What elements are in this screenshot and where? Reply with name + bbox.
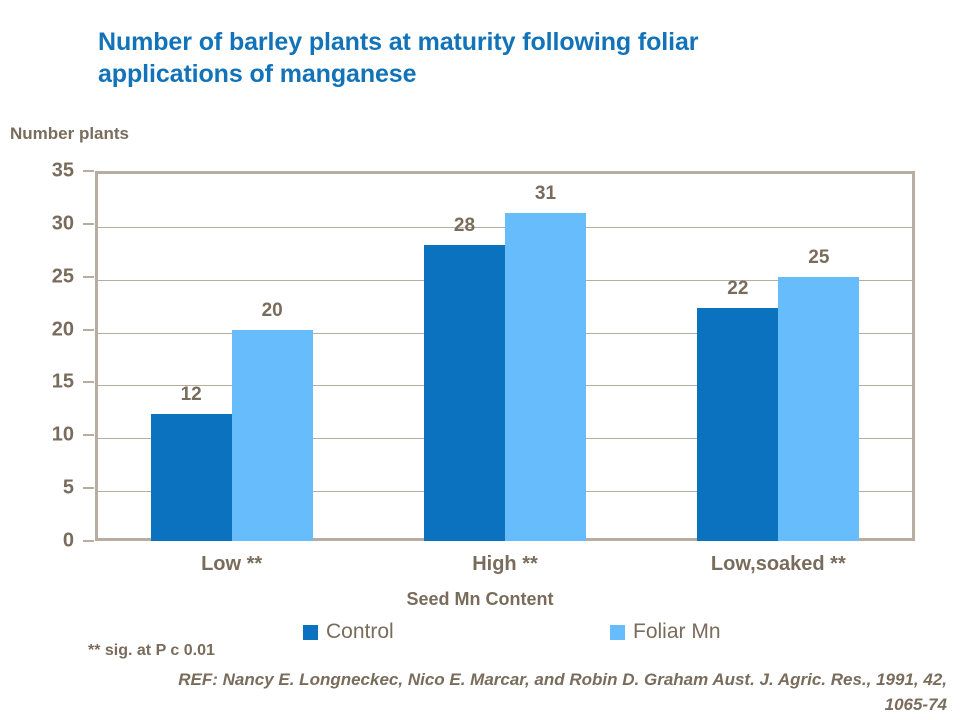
y-tick-label: 15 [0,371,74,394]
reference-line-2: Res., 1991, 42, 1065-74 [831,670,947,714]
legend-item-control[interactable]: Control [303,620,394,644]
y-tick-label: 35 [0,160,74,183]
chart-title-line-1: Number of barley plants at maturity foll… [98,26,918,58]
x-category-label: High ** [365,553,645,576]
bar-value-label: 20 [232,300,312,322]
legend-swatch-icon [610,625,625,640]
y-tick-mark [83,276,94,278]
x-axis-title: Seed Mn Content [0,589,960,610]
y-tick-label: 30 [0,212,74,235]
chart-title-line-2: applications of manganese [98,58,918,90]
bar-value-label: 22 [698,278,778,300]
bar-foliar-0[interactable] [232,330,313,541]
y-tick-mark [83,223,94,225]
legend-label: Foliar Mn [633,620,721,644]
x-category-label: Low,soaked ** [638,553,918,576]
y-tick-mark [83,329,94,331]
y-axis-title: Number plants [10,124,129,144]
y-tick-mark [83,170,94,172]
bar-value-label: 28 [425,215,505,237]
bar-control-0[interactable] [151,414,232,541]
y-tick-mark [83,381,94,383]
y-tick-mark [83,487,94,489]
bar-control-1[interactable] [424,245,505,541]
y-tick-mark [83,540,94,542]
significance-note: ** sig. at P c 0.01 [88,642,215,660]
legend-label: Control [326,620,394,644]
reference-line-1: REF: Nancy E. Longneckec, Nico E. Marcar… [178,670,826,689]
bar-value-label: 25 [779,247,859,269]
y-tick-label: 20 [0,318,74,341]
bar-foliar-1[interactable] [505,213,586,541]
bars-layer [95,171,915,541]
reference-note: REF: Nancy E. Longneckec, Nico E. Marcar… [135,668,947,717]
legend-swatch-icon [303,625,318,640]
x-category-label: Low ** [92,553,372,576]
y-tick-label: 25 [0,265,74,288]
y-tick-mark [83,434,94,436]
legend-item-foliar[interactable]: Foliar Mn [610,620,721,644]
bar-value-label: 31 [506,183,586,205]
y-tick-label: 0 [0,530,74,553]
bar-foliar-2[interactable] [778,277,859,541]
bar-control-2[interactable] [697,308,778,541]
y-tick-label: 10 [0,424,74,447]
y-tick-label: 5 [0,477,74,500]
chart-title: Number of barley plants at maturity foll… [98,26,918,90]
bar-value-label: 12 [151,384,231,406]
